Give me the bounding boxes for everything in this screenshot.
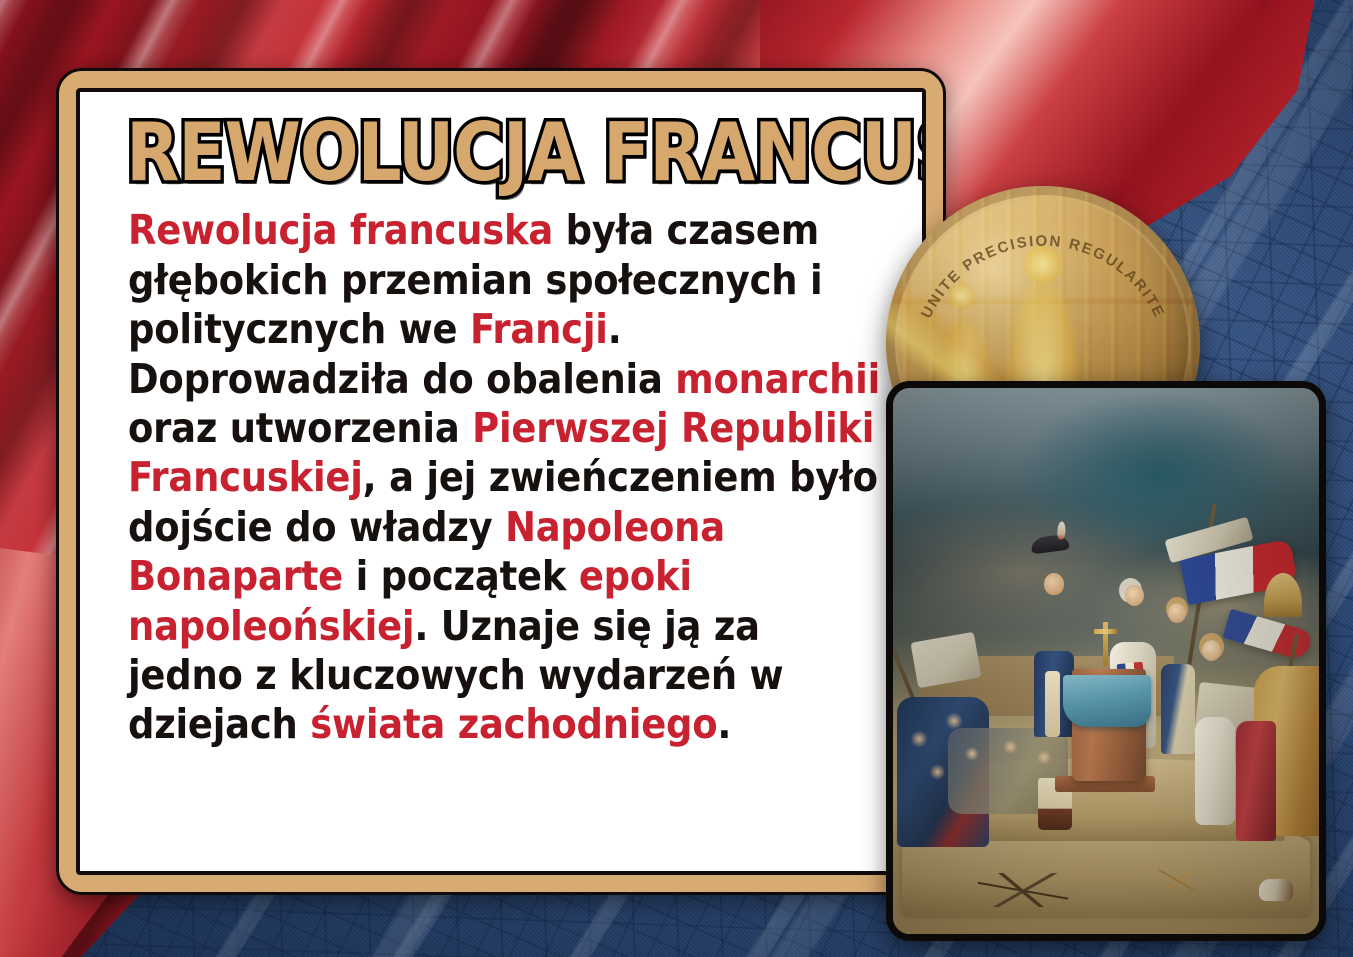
officer-head [1044, 573, 1064, 595]
body-highlight: Rewolucja francuska [128, 206, 553, 254]
girl-in-white-dress [1195, 717, 1235, 825]
officer-vest [1045, 671, 1060, 737]
revolution-painting [886, 381, 1326, 941]
content-card: REWOLUCJA FRANCUSKA Rewolucja francuska … [56, 68, 946, 895]
priest-head [1125, 585, 1144, 606]
body-text: i początek [343, 552, 579, 600]
svg-text:UNITE PRECISION REGULARITE: UNITE PRECISION REGULARITE [918, 233, 1168, 321]
body-text: oraz utworzenia [128, 404, 472, 452]
dog [1259, 879, 1293, 901]
poster-canvas: REWOLUCJA FRANCUSKA Rewolucja francuska … [0, 0, 1353, 957]
body-highlight: Francji [470, 305, 608, 353]
medal-legend-text: UNITE PRECISION REGULARITE [918, 233, 1168, 321]
content-card-inner: REWOLUCJA FRANCUSKA Rewolucja francuska … [76, 88, 926, 875]
bishop-red-robe [1236, 721, 1276, 841]
body-highlight: świata zachodniego [310, 700, 717, 748]
body-text: . [717, 700, 731, 748]
page-title: REWOLUCJA FRANCUSKA [80, 92, 888, 192]
body-paragraph: Rewolucja francuska była czasem głębokic… [80, 192, 922, 749]
altar-cross [1103, 622, 1108, 666]
body-highlight: monarchii [675, 355, 880, 403]
foreground-debris-left [978, 873, 1068, 907]
young-soldier-head [1168, 603, 1186, 623]
foreground-debris-right [1148, 870, 1208, 890]
young-soldier [1161, 664, 1195, 754]
altar-blue-cloth [1063, 675, 1151, 727]
